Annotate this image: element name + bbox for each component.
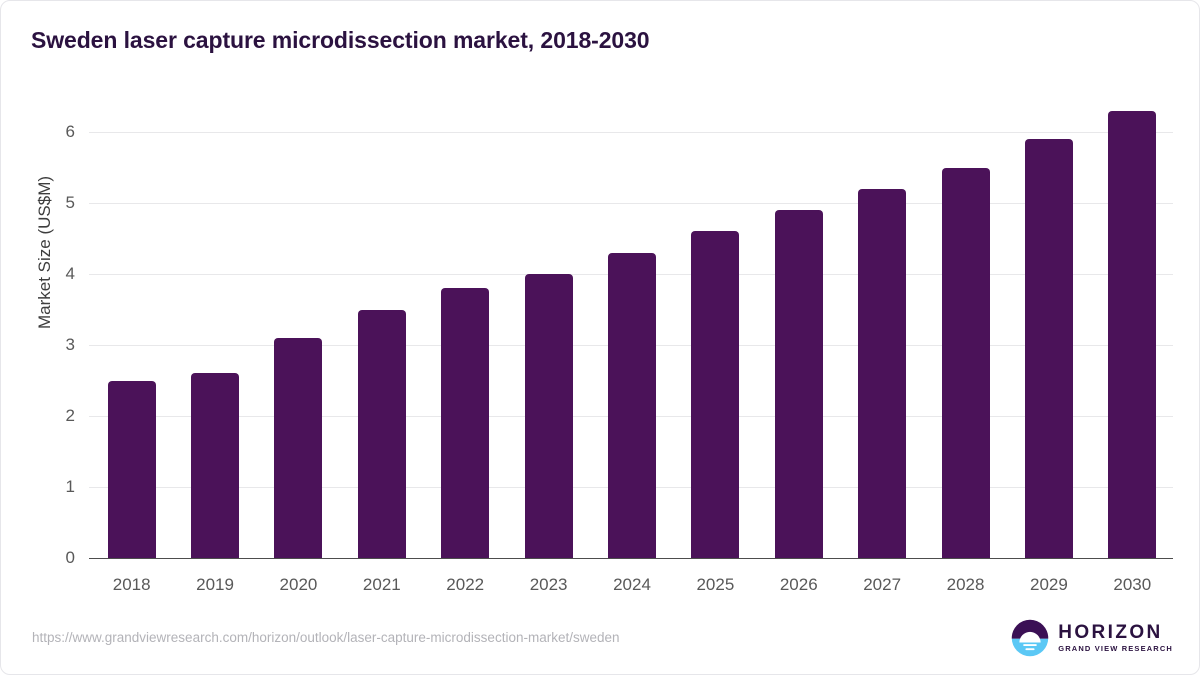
bar[interactable] [441,288,489,558]
bar[interactable] [108,381,156,559]
source-url[interactable]: https://www.grandviewresearch.com/horizo… [32,630,620,645]
horizon-logo-text: HORIZON GRAND VIEW RESEARCH [1058,623,1173,653]
horizon-logo-icon [1011,619,1049,657]
bar-group[interactable]: 2026 [775,101,823,558]
x-axis-tick-label: 2020 [274,575,322,595]
bar[interactable] [1108,111,1156,558]
x-axis-tick-label: 2021 [358,575,406,595]
bar-group[interactable]: 2027 [858,101,906,558]
x-axis-tick-label: 2024 [608,575,656,595]
bar-group[interactable]: 2021 [358,101,406,558]
x-axis-tick-label: 2027 [858,575,906,595]
bar[interactable] [858,189,906,558]
bar[interactable] [191,373,239,558]
bar[interactable] [274,338,322,558]
y-axis-tick-label: 4 [66,264,75,284]
y-axis-tick-label: 0 [66,548,75,568]
x-axis-tick-label: 2030 [1108,575,1156,595]
x-axis-tick-label: 2019 [191,575,239,595]
y-axis-tick-label: 2 [66,406,75,426]
logo-tagline: GRAND VIEW RESEARCH [1058,645,1173,653]
y-axis-tick-label: 5 [66,193,75,213]
x-axis-tick-label: 2028 [942,575,990,595]
bar[interactable] [525,274,573,558]
x-axis-tick-label: 2018 [108,575,156,595]
bar-group[interactable]: 2019 [191,101,239,558]
bar-series: 2018201920202021202220232024202520262027… [89,101,1173,558]
bar[interactable] [942,168,990,559]
bar[interactable] [608,253,656,558]
y-axis-title: Market Size (US$M) [35,176,55,329]
bar-group[interactable]: 2020 [274,101,322,558]
plot-area: 0123456 20182019202020212022202320242025… [89,101,1173,558]
x-axis-tick-label: 2023 [525,575,573,595]
bar-group[interactable]: 2030 [1108,101,1156,558]
bar-group[interactable]: 2024 [608,101,656,558]
y-axis-tick-label: 6 [66,122,75,142]
bar-group[interactable]: 2029 [1025,101,1073,558]
bar-group[interactable]: 2025 [691,101,739,558]
bar-group[interactable]: 2022 [441,101,489,558]
bar[interactable] [358,310,406,559]
y-axis-tick-label: 1 [66,477,75,497]
x-axis-tick-label: 2025 [691,575,739,595]
x-axis-line [89,558,1173,559]
logo-wordmark: HORIZON [1058,623,1173,642]
bar[interactable] [691,231,739,558]
x-axis-tick-label: 2029 [1025,575,1073,595]
bar-group[interactable]: 2023 [525,101,573,558]
bar-group[interactable]: 2028 [942,101,990,558]
bar[interactable] [1025,139,1073,558]
horizon-logo[interactable]: HORIZON GRAND VIEW RESEARCH [1011,619,1173,657]
bar-group[interactable]: 2018 [108,101,156,558]
bar[interactable] [775,210,823,558]
page-title: Sweden laser capture microdissection mar… [31,27,649,54]
chart-page: Sweden laser capture microdissection mar… [0,0,1200,675]
y-axis-tick-label: 3 [66,335,75,355]
x-axis-tick-label: 2022 [441,575,489,595]
x-axis-tick-label: 2026 [775,575,823,595]
